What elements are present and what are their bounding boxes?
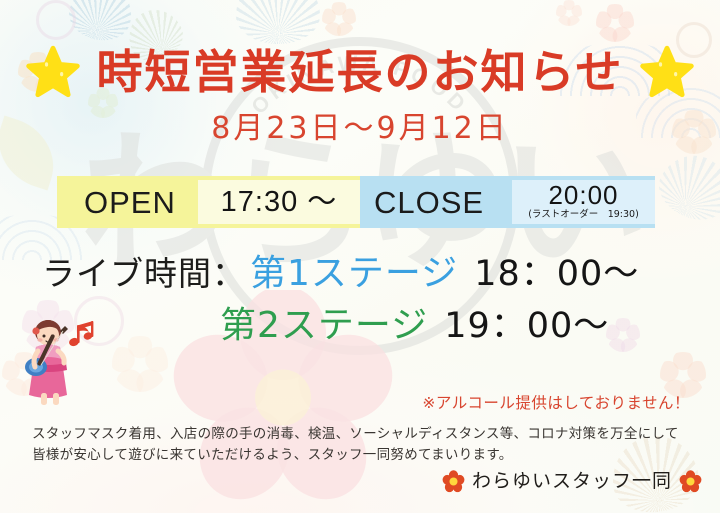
star-icon-left — [26, 45, 80, 99]
open-time-box: 17:30 〜 — [198, 180, 360, 224]
open-label: OPEN — [84, 187, 176, 218]
covid-measures-line-2: 皆様が安心して遊びに来ていただけるよう、スタッフ一同努めてまいります。 — [32, 445, 692, 466]
sanshin-performer-illustration — [8, 305, 120, 410]
background-motif-fan — [650, 144, 720, 230]
signature-row: わらゆいスタッフ一同 — [442, 470, 702, 493]
open-hours-section: OPEN 17:30 〜 — [57, 176, 360, 228]
page-title: 時短営業延長のお知らせ — [96, 49, 623, 95]
star-icon-right — [640, 45, 694, 99]
live-heading: ライブ時間： — [42, 257, 246, 290]
stage-2-label: 第2ステージ — [220, 308, 428, 344]
stage-2-time: 19：00〜 — [444, 309, 609, 344]
close-time-box: 20:00 (ラストオーダー 19:30) — [512, 180, 655, 224]
alcohol-notice: ※アルコール提供はしておりません！ — [422, 396, 690, 412]
business-hours-band: OPEN 17:30 〜 CLOSE 20:00 (ラストオーダー 19:30) — [57, 176, 655, 228]
hibiscus-flower-icon-right — [679, 470, 702, 493]
close-time: 20:00 — [548, 182, 618, 208]
covid-measures-line-1: スタッフマスク着用、入店の際の手の消毒、検温、ソーシャルディスタンス等、コロナ対… — [32, 424, 692, 445]
close-label: CLOSE — [374, 187, 484, 218]
close-hours-section: CLOSE 20:00 (ラストオーダー 19:30) — [360, 176, 655, 228]
hibiscus-flower-icon-left — [442, 470, 465, 493]
stage-1-time: 18：00〜 — [474, 257, 639, 292]
music-note-icon — [68, 321, 93, 347]
live-stage-1-row: ライブ時間： 第1ステージ 18：00〜 — [0, 256, 720, 308]
signature-text: わらゆいスタッフ一同 — [472, 472, 672, 491]
covid-measures-text: スタッフマスク着用、入店の際の手の消毒、検温、ソーシャルディスタンス等、コロナ対… — [32, 424, 692, 466]
date-range: 8月23日〜9月12日 — [0, 114, 720, 144]
poster-canvas: OKINAWA FOOD わらゆい 時短営業延長のお知らせ 8月23日〜9月1 — [0, 0, 720, 513]
background-motif-ring — [36, 0, 76, 40]
open-time: 17:30 〜 — [221, 188, 338, 217]
last-order-note: (ラストオーダー 19:30) — [528, 210, 639, 220]
stage-1-label: 第1ステージ — [250, 256, 458, 292]
background-motif-flower — [556, 0, 582, 26]
title-row: 時短営業延長のお知らせ — [0, 36, 720, 108]
